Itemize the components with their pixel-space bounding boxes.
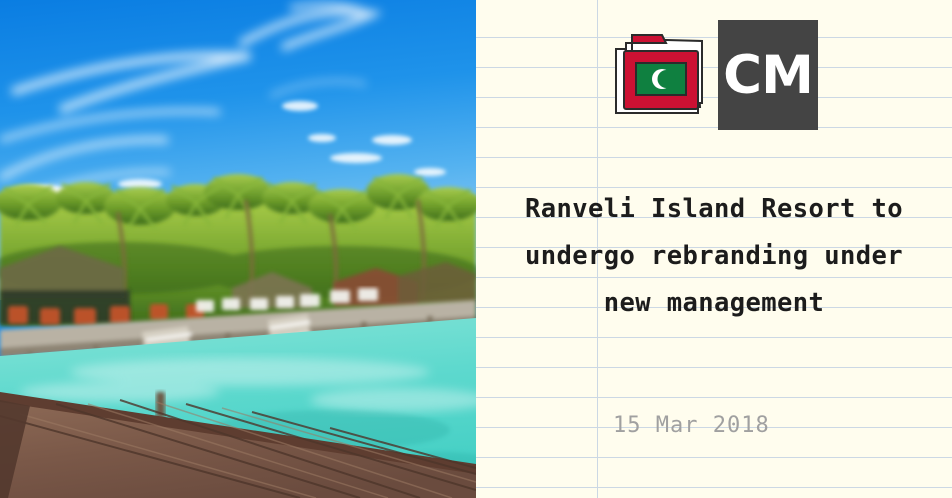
cm-logo-text: CM (723, 49, 813, 102)
article-panel: CM Ranveli Island Resort to undergo rebr… (476, 0, 952, 498)
cm-logo-badge: CM (718, 20, 818, 130)
article-photo (0, 0, 476, 498)
news-card: CM Ranveli Island Resort to undergo rebr… (0, 0, 952, 498)
brand-logo-row: CM (476, 20, 952, 130)
article-headline: Ranveli Island Resort to undergo rebrand… (476, 186, 952, 327)
maldives-flag-folder-icon (610, 29, 706, 121)
article-date: 15 Mar 2018 (613, 411, 770, 441)
